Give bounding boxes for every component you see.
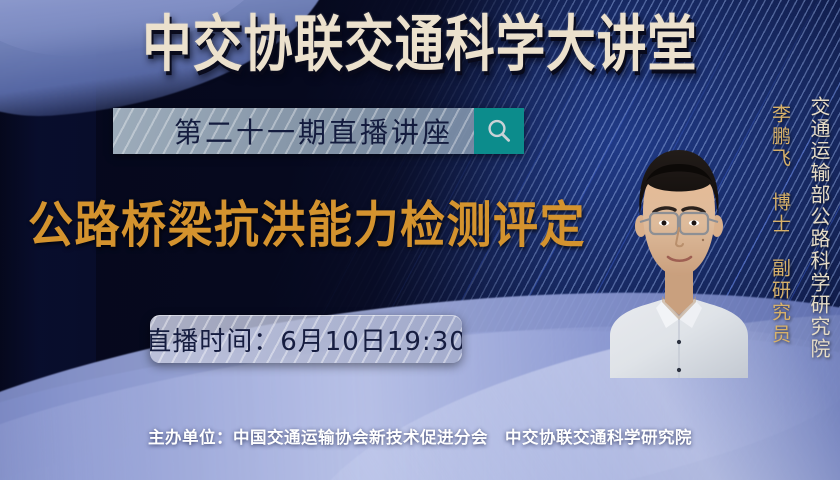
broadcast-time-text: 直播时间：6月10日19:30 [150,321,462,358]
speaker-affiliation: 交通运输部公路科学研究院 [805,96,834,360]
live-lecture-poster: 中交协联交通科学大讲堂 第二十一期直播讲座 公路桥梁抗洪能力检测评定 直播时间：… [0,0,840,480]
footer-bar: 主办单位：中国交通运输协会新技术促进分会 中交协联交通科学研究院 [0,424,840,448]
lecture-headline: 公路桥梁抗洪能力检测评定 [28,200,586,250]
broadcast-time-badge: 直播时间：6月10日19:30 [150,315,462,363]
poster-content: 中交协联交通科学大讲堂 第二十一期直播讲座 公路桥梁抗洪能力检测评定 直播时间：… [0,0,840,480]
search-icon [484,116,514,146]
page-title: 中交协联交通科学大讲堂 [4,14,836,75]
speaker-portrait [604,120,754,378]
subtitle-text: 第二十一期直播讲座 [134,111,453,151]
search-icon-box [474,108,524,154]
organizer-text: 主办单位：中国交通运输协会新技术促进分会 中交协联交通科学研究院 [148,424,692,448]
speaker-name-title: 李鹏飞 博士 副研究员 [767,104,794,346]
subtitle-banner: 第二十一期直播讲座 [113,108,524,154]
subtitle-banner-body: 第二十一期直播讲座 [113,108,474,154]
